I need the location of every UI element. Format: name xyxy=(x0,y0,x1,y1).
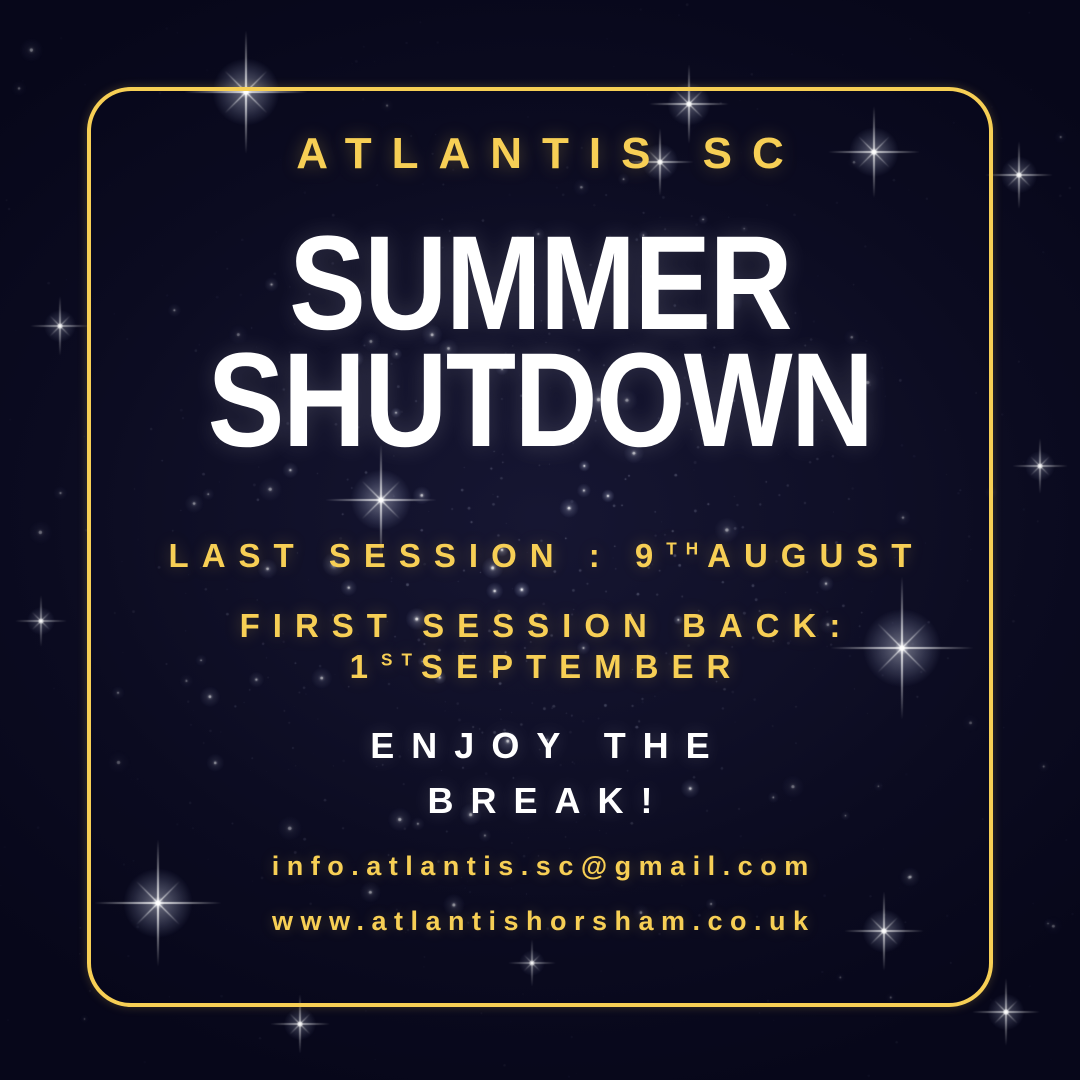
break-message: ENJOY THE BREAK! xyxy=(0,718,1080,828)
first-session-label: FIRST SESSION BACK: xyxy=(240,607,854,644)
club-name: ATLANTIS SC xyxy=(0,132,1080,176)
first-session-month: SEPTEMBER xyxy=(421,648,743,685)
poster-content: ATLANTIS SC SUMMER SHUTDOWN LAST SESSION… xyxy=(0,0,1080,1080)
break-message-line-2: BREAK! xyxy=(0,773,1080,828)
break-message-line-1: ENJOY THE xyxy=(0,718,1080,773)
contact-details: info.atlantis.sc@gmail.com www.atlantish… xyxy=(0,853,1080,935)
headline-line-2: SHUTDOWN xyxy=(76,339,1005,462)
last-session-line: LAST SESSION : 9THAUGUST xyxy=(0,535,1080,576)
first-session-day: 1 xyxy=(350,648,381,685)
last-session-suffix: AUGUST xyxy=(707,537,924,574)
last-session-prefix: LAST SESSION : 9 xyxy=(169,537,667,574)
first-session-block: FIRST SESSION BACK: 1STSEPTEMBER xyxy=(0,606,1080,687)
session-dates: LAST SESSION : 9THAUGUST FIRST SESSION B… xyxy=(0,535,1080,687)
first-session-ordinal: ST xyxy=(381,649,421,669)
contact-email[interactable]: info.atlantis.sc@gmail.com xyxy=(0,853,1080,880)
poster-canvas: ATLANTIS SC SUMMER SHUTDOWN LAST SESSION… xyxy=(0,0,1080,1080)
first-session-date: 1STSEPTEMBER xyxy=(0,647,1080,687)
contact-website[interactable]: www.atlantishorsham.co.uk xyxy=(0,908,1080,935)
last-session-ordinal: TH xyxy=(666,539,707,559)
headline: SUMMER SHUTDOWN xyxy=(0,222,1080,463)
